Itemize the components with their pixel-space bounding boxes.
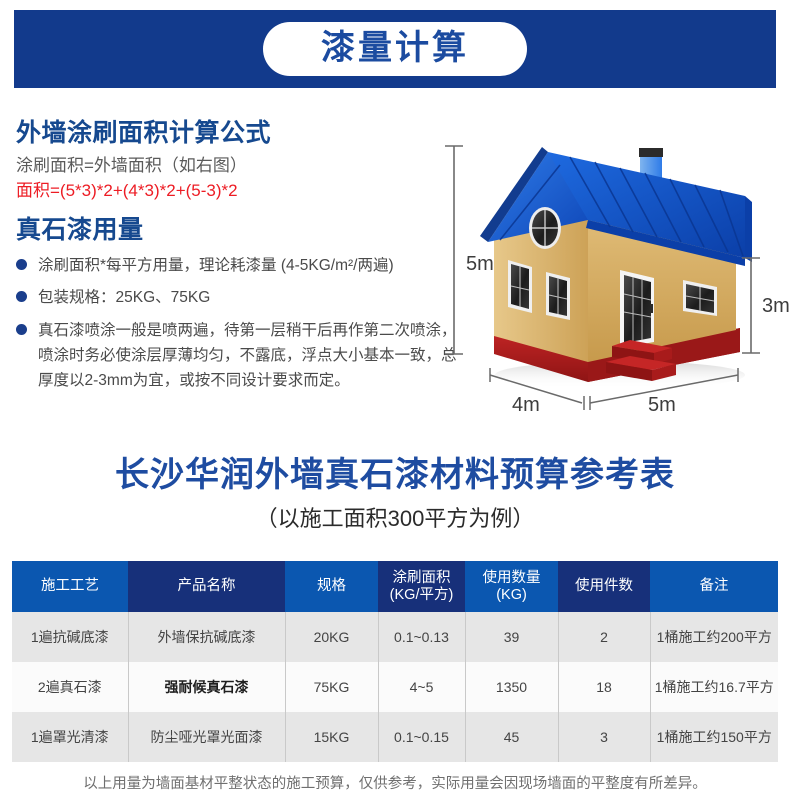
bullet-dot-icon xyxy=(16,324,27,335)
width-label-5m: 5m xyxy=(648,394,676,416)
header-line-1: 产品名称 xyxy=(178,578,236,594)
cell-process: 1遍抗碱底漆 xyxy=(12,612,128,662)
cell-coverage: 4~5 xyxy=(378,662,465,712)
left-text-column: 外墙涂刷面积计算公式 涂刷面积=外墙面积（如右图） 面积=(5*3)*2+(4*… xyxy=(16,118,466,400)
cell-amount: 39 xyxy=(465,612,558,662)
banner-pill: 漆量计算 xyxy=(263,22,527,75)
cell-product: 外墙保抗碱底漆 xyxy=(128,612,285,662)
door-handle-icon xyxy=(650,304,653,313)
header-line-1: 使用件数 xyxy=(575,578,633,594)
wall-height-label-3m: 3m xyxy=(762,295,790,317)
cell-product: 防尘哑光罩光面漆 xyxy=(128,712,285,762)
cell-process: 1遍罩光清漆 xyxy=(12,712,128,762)
header-line-1: 规格 xyxy=(317,578,346,594)
list-item: 真石漆喷涂一般是喷两遍，待第一层稍干后再作第二次喷涂，喷涂时务必使涂层厚薄均匀，… xyxy=(16,318,466,393)
cell-remark: 1桶施工约200平方 xyxy=(650,612,778,662)
header-line-1: 使用数量 xyxy=(483,570,541,586)
bullet-text: 真石漆喷涂一般是喷两遍，待第一层稍干后再作第二次喷涂，喷涂时务必使涂层厚薄均匀，… xyxy=(38,322,457,389)
header-line-2: (KG) xyxy=(496,587,527,603)
header-line-1: 备注 xyxy=(700,578,729,594)
list-item: 包装规格：25KG、75KG xyxy=(16,285,466,310)
section-title: 长沙华润外墙真石漆材料预算参考表 xyxy=(0,455,790,496)
table-row: 2遍真石漆 强耐候真石漆 75KG 4~5 1350 18 1桶施工约16.7平… xyxy=(12,662,778,712)
table-header-row: 施工工艺 产品名称 规格 涂刷面积 (KG/平方) 使用数量 (KG) 使用件数 xyxy=(12,561,778,612)
column-header-pieces: 使用件数 xyxy=(558,561,650,612)
bullet-dot-icon xyxy=(16,259,27,270)
formula-line-2: 面积=(5*3)*2+(4*3)*2+(5-3)*2 xyxy=(16,179,466,204)
cell-remark: 1桶施工约16.7平方 xyxy=(650,662,778,712)
cell-pieces: 18 xyxy=(558,662,650,712)
roof-right-edge xyxy=(745,196,752,262)
section-subtitle: （以施工面积300平方为例） xyxy=(0,506,790,532)
cell-coverage: 0.1~0.13 xyxy=(378,612,465,662)
bullet-text: 涂刷面积*每平方用量，理论耗漆量 (4-5KG/m²/两遍) xyxy=(38,257,394,274)
cell-pieces: 2 xyxy=(558,612,650,662)
cell-coverage: 0.1~0.15 xyxy=(378,712,465,762)
window-left-2 xyxy=(546,272,570,320)
dimension-wall-height-3m xyxy=(742,258,760,353)
cell-amount: 45 xyxy=(465,712,558,762)
depth-label-4m: 4m xyxy=(512,394,540,416)
bullet-dot-icon xyxy=(16,291,27,302)
cell-amount: 1350 xyxy=(465,662,558,712)
banner-title: 漆量计算 xyxy=(321,29,469,68)
height-label-5m: 5m xyxy=(466,253,494,275)
table-row: 1遍罩光清漆 防尘哑光罩光面漆 15KG 0.1~0.15 45 3 1桶施工约… xyxy=(12,712,778,762)
formula-heading: 外墙涂刷面积计算公式 xyxy=(16,118,466,148)
usage-heading: 真石漆用量 xyxy=(16,215,466,245)
header-line-1: 涂刷面积 xyxy=(393,570,451,586)
cell-pieces: 3 xyxy=(558,712,650,762)
column-header-remark: 备注 xyxy=(650,561,778,612)
cell-remark: 1桶施工约150平方 xyxy=(650,712,778,762)
house-svg: 5m xyxy=(440,130,790,430)
column-header-spec: 规格 xyxy=(285,561,378,612)
bullet-text: 包装规格：25KG、75KG xyxy=(38,289,210,306)
column-header-amount: 使用数量 (KG) xyxy=(465,561,558,612)
cell-product: 强耐候真石漆 xyxy=(128,662,285,712)
footer-note: 以上用量为墙面基材平整状态的施工预算，仅供参考，实际用量会因现场墙面的平整度有所… xyxy=(0,772,790,793)
window-left-1 xyxy=(508,260,532,313)
cell-spec: 20KG xyxy=(285,612,378,662)
front-door xyxy=(620,270,654,348)
chimney-cap xyxy=(639,148,663,157)
column-header-product: 产品名称 xyxy=(128,561,285,612)
list-item: 涂刷面积*每平方用量，理论耗漆量 (4-5KG/m²/两遍) xyxy=(16,253,466,278)
formula-line-1: 涂刷面积=外墙面积（如右图） xyxy=(16,154,466,179)
usage-bullet-list: 涂刷面积*每平方用量，理论耗漆量 (4-5KG/m²/两遍) 包装规格：25KG… xyxy=(16,253,466,393)
table-row: 1遍抗碱底漆 外墙保抗碱底漆 20KG 0.1~0.13 39 2 1桶施工约2… xyxy=(12,612,778,662)
budget-table: 施工工艺 产品名称 规格 涂刷面积 (KG/平方) 使用数量 (KG) 使用件数 xyxy=(12,561,778,762)
header-line-2: (KG/平方) xyxy=(390,587,454,603)
top-banner: 漆量计算 xyxy=(14,10,776,88)
cell-process: 2遍真石漆 xyxy=(12,662,128,712)
cell-spec: 15KG xyxy=(285,712,378,762)
dimension-height-5m xyxy=(445,146,463,354)
header-line-1: 施工工艺 xyxy=(41,578,99,594)
budget-table-wrapper: 施工工艺 产品名称 规格 涂刷面积 (KG/平方) 使用数量 (KG) 使用件数 xyxy=(12,561,778,762)
house-illustration: 5m xyxy=(440,130,790,430)
cell-spec: 75KG xyxy=(285,662,378,712)
column-header-process: 施工工艺 xyxy=(12,561,128,612)
column-header-coverage: 涂刷面积 (KG/平方) xyxy=(378,561,465,612)
